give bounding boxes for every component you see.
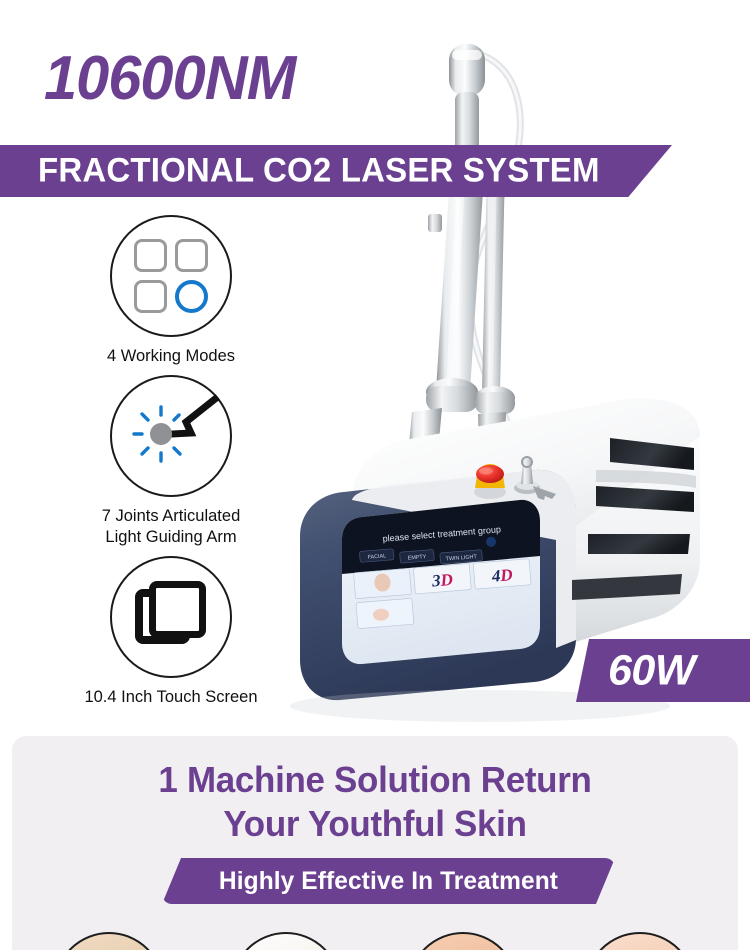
svg-text:3D: 3D bbox=[430, 570, 453, 591]
svg-text:4D: 4D bbox=[490, 565, 513, 586]
bottom-promo-panel: 1 Machine Solution Return Your Youthful … bbox=[12, 736, 738, 950]
arm-icon-svg bbox=[112, 377, 230, 495]
power-badge: 60W bbox=[576, 639, 750, 702]
subtitle-text: FRACTIONAL CO2 LASER SYSTEM bbox=[38, 152, 600, 191]
feature-label-working-modes: 4 Working Modes bbox=[6, 346, 336, 367]
layer-front-square bbox=[149, 581, 206, 638]
grid-cell-2 bbox=[175, 239, 208, 272]
grid-circle-accent bbox=[175, 280, 208, 313]
svg-text:FACIAL: FACIAL bbox=[367, 553, 386, 560]
treatment-photo-3[interactable] bbox=[408, 932, 518, 950]
promo-headline-line2: Your Youthful Skin bbox=[23, 802, 727, 846]
subtitle-banner: FRACTIONAL CO2 LASER SYSTEM bbox=[0, 145, 672, 197]
feature-item-articulated-arm: 7 Joints Articulated Light Guiding Arm bbox=[6, 375, 336, 548]
feature-label-articulated-arm: 7 Joints Articulated Light Guiding Arm bbox=[6, 506, 336, 548]
promo-ribbon: Highly Effective In Treatment bbox=[162, 858, 615, 904]
power-badge-text: 60W bbox=[608, 646, 695, 695]
treatment-photo-1[interactable] bbox=[54, 932, 164, 950]
svg-text:TWIN LIGHT: TWIN LIGHT bbox=[445, 554, 477, 563]
svg-text:please select treatment group: please select treatment group bbox=[382, 524, 501, 543]
grid-cell-3 bbox=[134, 280, 167, 313]
treatment-photo-4[interactable] bbox=[585, 932, 695, 950]
promo-headline-line1: 1 Machine Solution Return bbox=[23, 758, 727, 802]
layers-screen-icon bbox=[110, 556, 232, 678]
feature-list: 4 Working Modes bbox=[0, 215, 330, 716]
grid-four-modes-icon bbox=[110, 215, 232, 337]
page-title: 10600NM bbox=[44, 48, 295, 110]
svg-text:EMPTY: EMPTY bbox=[408, 554, 427, 562]
promo-ribbon-text: Highly Effective In Treatment bbox=[167, 858, 611, 904]
feature-item-touch-screen: 10.4 Inch Touch Screen bbox=[6, 556, 336, 708]
feature-item-working-modes: 4 Working Modes bbox=[6, 215, 336, 367]
grid-cell-1 bbox=[134, 239, 167, 272]
product-banner-page: please select treatment group FACIAL EMP… bbox=[0, 0, 750, 950]
treatment-photo-2[interactable] bbox=[231, 932, 341, 950]
feature-label-touch-screen: 10.4 Inch Touch Screen bbox=[6, 687, 336, 708]
articulated-arm-icon bbox=[110, 375, 232, 497]
treatment-thumbnail-row bbox=[12, 932, 738, 950]
